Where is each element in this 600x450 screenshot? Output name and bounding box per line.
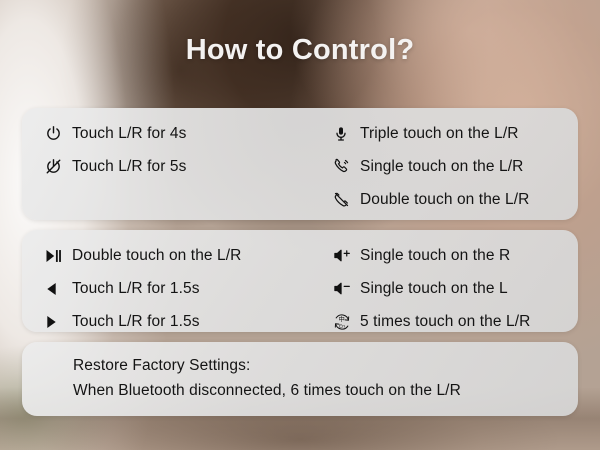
- play-pause-icon: [45, 249, 72, 263]
- row-label: Triple touch on the L/R: [360, 125, 519, 143]
- card-restore-factory-settings: Restore Factory Settings: When Bluetooth…: [22, 342, 578, 416]
- volume-down-icon: [333, 281, 360, 296]
- control-guide-page: How to Control? Touch L/R for 4s: [0, 0, 600, 450]
- previous-track-icon: [45, 282, 72, 296]
- row-previous-track: Touch L/R for 1.5s: [45, 272, 312, 305]
- row-label: Single touch on the R: [360, 247, 510, 265]
- card-media-and-volume: Double touch on the L/R Touch L/R for 1.…: [22, 230, 578, 332]
- next-track-icon: [45, 315, 72, 329]
- card-power-and-calls: Touch L/R for 4s Touch L/R for 5s: [22, 108, 578, 220]
- row-label: Double touch on the L/R: [72, 247, 241, 265]
- power-icon: [45, 125, 72, 142]
- row-answer-call: Single touch on the L/R: [333, 150, 578, 183]
- row-label: Single touch on the L: [360, 280, 508, 298]
- card-2-left-column: Double touch on the L/R Touch L/R for 1.…: [22, 239, 312, 332]
- row-language-switch: 中 En 5 times touch on the L/R: [333, 305, 578, 338]
- row-next-track: Touch L/R for 1.5s: [45, 305, 312, 338]
- card-2-right-column: Single touch on the R Single touch on th…: [312, 239, 578, 332]
- row-label: Touch L/R for 1.5s: [72, 280, 200, 298]
- row-power-on: Touch L/R for 4s: [45, 117, 312, 150]
- language-switch-icon: 中 En: [333, 313, 360, 331]
- page-title: How to Control?: [0, 34, 600, 67]
- phone-call-icon: [333, 158, 360, 175]
- row-volume-up: Single touch on the R: [333, 239, 578, 272]
- phone-hangup-icon: [333, 191, 360, 208]
- restore-note-line-1: Restore Factory Settings:: [73, 353, 578, 378]
- power-off-icon: [45, 158, 72, 175]
- row-label: Double touch on the L/R: [360, 191, 529, 209]
- row-label: Touch L/R for 5s: [72, 158, 186, 176]
- volume-up-icon: [333, 248, 360, 263]
- svg-text:En: En: [339, 323, 345, 329]
- row-voice-assistant: Triple touch on the L/R: [333, 117, 578, 150]
- card-1-right-column: Triple touch on the L/R Single touch on …: [312, 117, 578, 220]
- row-play-pause: Double touch on the L/R: [45, 239, 312, 272]
- restore-note: Restore Factory Settings: When Bluetooth…: [22, 342, 578, 403]
- card-1-left-column: Touch L/R for 4s Touch L/R for 5s: [22, 117, 312, 220]
- row-label: Touch L/R for 4s: [72, 125, 186, 143]
- microphone-icon: [333, 126, 360, 142]
- row-power-off: Touch L/R for 5s: [45, 150, 312, 183]
- svg-text:中: 中: [339, 315, 345, 323]
- row-volume-down: Single touch on the L: [333, 272, 578, 305]
- row-label: Single touch on the L/R: [360, 158, 523, 176]
- row-label: 5 times touch on the L/R: [360, 313, 530, 331]
- restore-note-line-2: When Bluetooth disconnected, 6 times tou…: [73, 378, 578, 403]
- row-label: Touch L/R for 1.5s: [72, 313, 200, 331]
- row-hangup-call: Double touch on the L/R: [333, 183, 578, 216]
